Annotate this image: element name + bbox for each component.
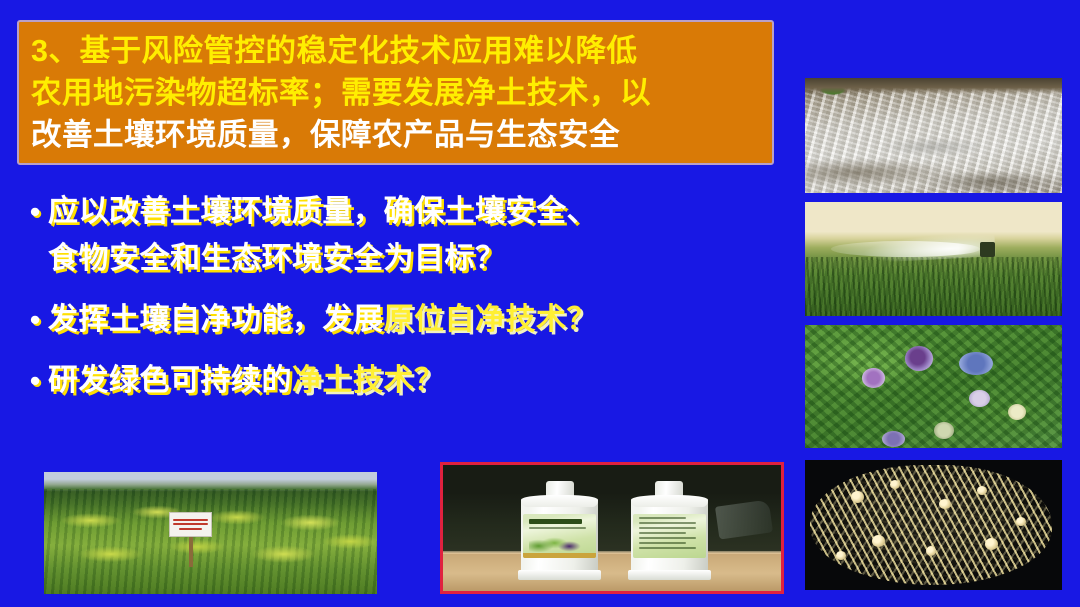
- root-nodule: [985, 538, 998, 550]
- sign-text-line: [173, 523, 209, 525]
- spray-plume-streak: [831, 241, 980, 257]
- photo-saline-soil: [805, 78, 1062, 193]
- label-text-line: [639, 532, 686, 534]
- photo-flowering-crop-image: [805, 325, 1062, 448]
- label-text-line: [639, 542, 686, 544]
- bottle-back-label: [633, 514, 706, 558]
- label-title-bar: [529, 519, 582, 524]
- bullet-marker-icon: •: [22, 188, 48, 235]
- label-text-line: [639, 537, 696, 539]
- photo-field-spray: [805, 202, 1062, 316]
- bullet-list: • 应以改善土壤环境质量，确保土壤安全、 食物安全和生态环境安全为目标？ • 发…: [22, 188, 782, 418]
- bullet-3-seg-2: 净土技术？: [292, 364, 445, 397]
- bullet-text-3: 研发绿色可持续的净土技术？: [48, 357, 782, 404]
- label-text-line: [639, 547, 696, 549]
- signboard-post: [189, 535, 194, 567]
- root-nodule: [890, 480, 900, 489]
- photo-root-nodules: [805, 460, 1062, 590]
- crop-canopy-texture: [805, 257, 1062, 316]
- product-bottle-front: [521, 498, 599, 574]
- photo-saline-soil-image: [805, 78, 1062, 193]
- flower-blossom: [882, 431, 905, 447]
- soil-green-patch: [820, 85, 846, 95]
- flower-blossom: [934, 422, 955, 439]
- bullet-1-line-2: 食物安全和生态环境安全为目标？: [48, 235, 782, 282]
- root-nodule: [872, 535, 885, 547]
- photo-root-nodules-image: [805, 460, 1062, 590]
- bottle-shoulder: [521, 495, 599, 507]
- photo-flowering-crop: [805, 325, 1062, 448]
- background-object: [715, 499, 773, 539]
- flower-blossom: [862, 368, 885, 388]
- bullet-2-seg-1: 发挥土壤自净功能，发展: [48, 303, 384, 336]
- root-nodule: [851, 491, 864, 503]
- bottle-base: [518, 570, 600, 581]
- product-bottle-back: [631, 498, 709, 574]
- label-text-line: [639, 522, 696, 524]
- bullet-1-seg-1: 应以改善土壤环境质量，确保土壤安全、: [48, 195, 597, 228]
- bottle-front-label: [523, 514, 596, 558]
- sign-text-line: [173, 519, 209, 521]
- flower-blossom: [905, 346, 933, 371]
- bullet-text-1: 应以改善土壤环境质量，确保土壤安全、 食物安全和生态环境安全为目标？: [48, 188, 782, 282]
- horizon-treeline: [44, 472, 377, 490]
- bullet-item-3: • 研发绿色可持续的净土技术？: [22, 357, 782, 404]
- title-box: 3、基于风险管控的稳定化技术应用难以降低 农用地污染物超标率；需要发展净土技术，…: [17, 20, 774, 165]
- label-text-line: [639, 517, 686, 519]
- label-bottom-band: [523, 553, 596, 558]
- bottle-shoulder: [631, 495, 709, 507]
- photo-field-plot: [44, 472, 377, 594]
- bullet-1-line-1: 应以改善土壤环境质量，确保土壤安全、: [48, 188, 782, 235]
- label-text-line: [529, 527, 586, 529]
- field-plot-patches: [44, 489, 377, 594]
- photo-field-spray-image: [805, 202, 1062, 316]
- label-text-line: [639, 527, 696, 529]
- photo-field-plot-image: [44, 472, 377, 594]
- slide-canvas: 3、基于风险管控的稳定化技术应用难以降低 农用地污染物超标率；需要发展净土技术，…: [0, 0, 1080, 607]
- title-line-2: 农用地污染物超标率；需要发展净土技术，以: [31, 72, 760, 114]
- flower-blossom: [969, 390, 990, 407]
- bullet-item-2: • 发挥土壤自净功能，发展原位自净技术？: [22, 296, 782, 343]
- photo-product-bottles: [440, 462, 784, 594]
- sign-text-line: [179, 528, 202, 530]
- flower-blossom: [959, 352, 992, 375]
- bench-edge: [443, 551, 781, 555]
- field-signboard: [169, 512, 212, 536]
- title-line-3: 改善土壤环境质量，保障农产品与生态安全: [31, 114, 760, 156]
- bullet-marker-icon: •: [22, 296, 48, 343]
- bullet-3-seg-1: 研发绿色可持续的: [48, 364, 292, 397]
- bullet-item-1: • 应以改善土壤环境质量，确保土壤安全、 食物安全和生态环境安全为目标？: [22, 188, 782, 282]
- flower-blossom: [1008, 404, 1026, 420]
- bullet-text-2: 发挥土壤自净功能，发展原位自净技术？: [48, 296, 782, 343]
- label-leaf-graphic: [529, 537, 582, 552]
- title-line-1: 3、基于风险管控的稳定化技术应用难以降低: [31, 30, 760, 72]
- bottle-base: [628, 570, 710, 581]
- bullet-2-seg-2: 原位自净技术？: [384, 303, 598, 336]
- bullet-1-seg-2: 食物安全和生态环境安全为目标？: [48, 242, 506, 275]
- photo-product-bottles-image: [443, 465, 781, 591]
- spray-rig: [980, 242, 995, 257]
- root-mass: [810, 465, 1052, 585]
- bullet-marker-icon: •: [22, 357, 48, 404]
